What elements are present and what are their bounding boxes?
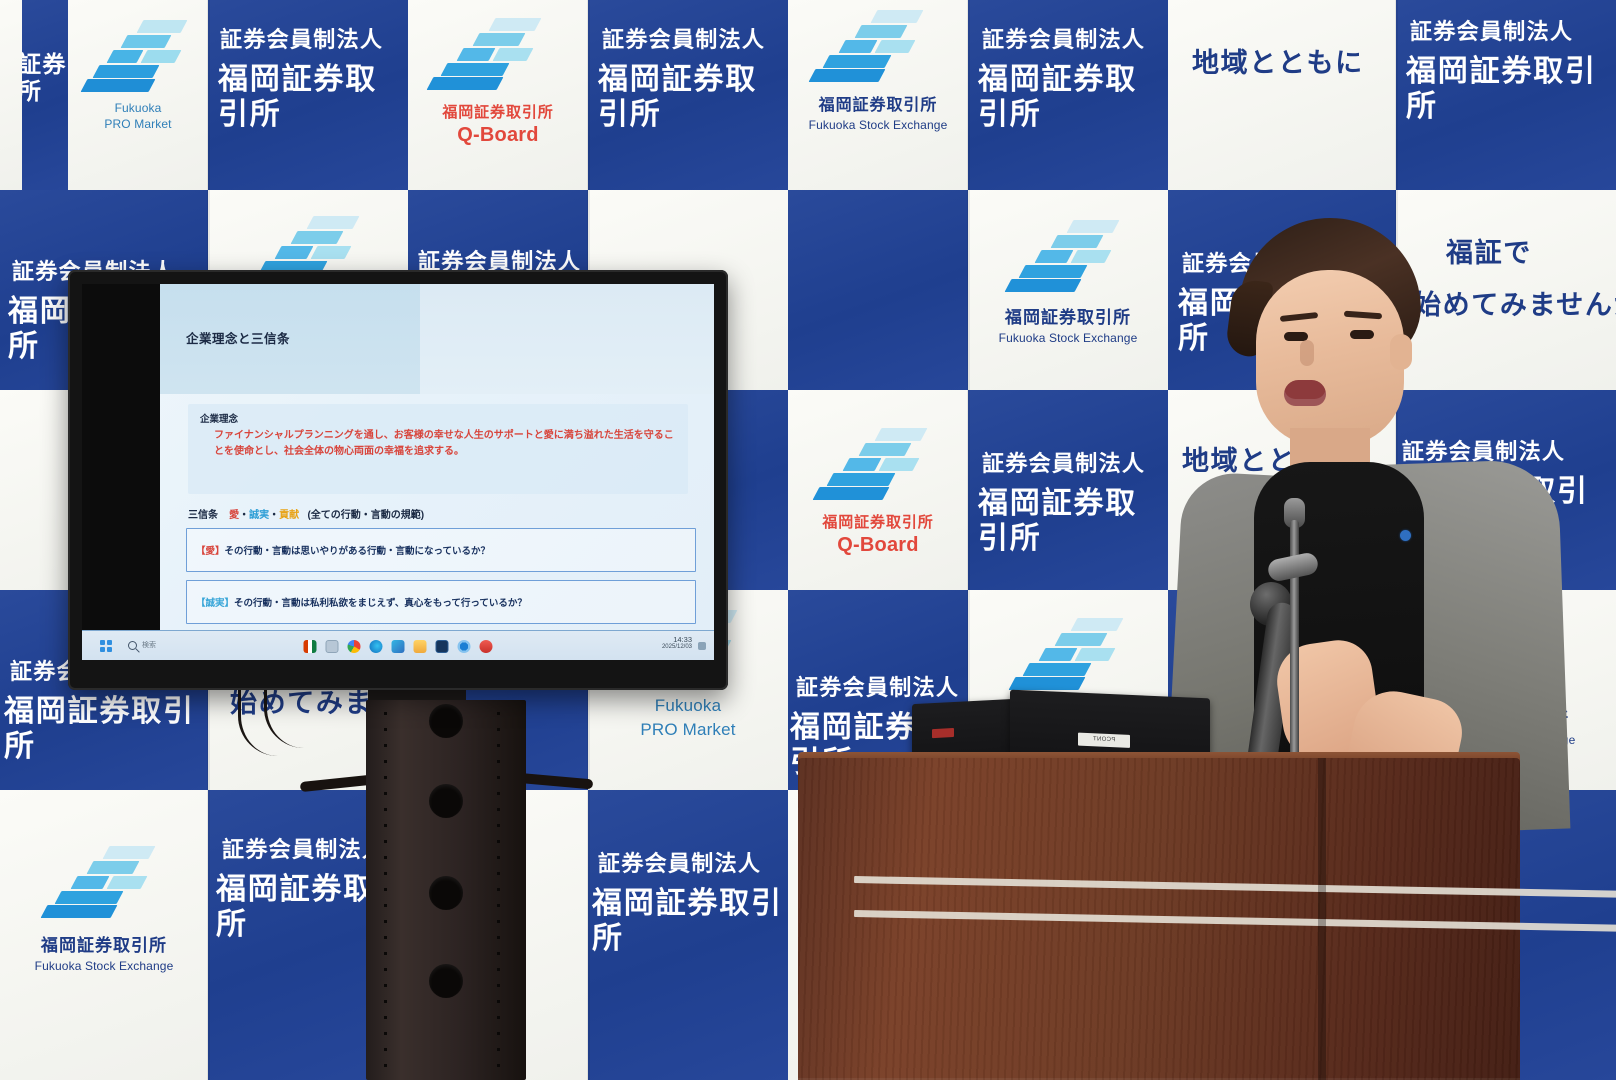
org-name: 福岡証券取引所 xyxy=(218,62,408,133)
fukuoka-stock-exchange-logo-icon xyxy=(1008,218,1126,298)
clock-date: 2025/12/03 xyxy=(662,644,692,652)
fukuoka-stock-exchange-logo-icon xyxy=(1012,616,1130,696)
adobe-icon[interactable] xyxy=(480,640,493,653)
eyebrow-left xyxy=(1280,312,1318,322)
org-prefix: 証券会員制法人 xyxy=(602,28,765,54)
backdrop-logo-cell: 福岡証券取引所 Fukuoka Stock Exchange xyxy=(788,0,968,190)
fse-line2: Fukuoka Stock Exchange xyxy=(968,331,1168,345)
logo-line2: PRO Market xyxy=(640,720,735,739)
fukuoka-stock-exchange-logo-icon xyxy=(812,8,930,88)
org-prefix: 証券会員制法人 xyxy=(222,838,385,864)
start-button-icon[interactable] xyxy=(100,640,112,652)
fukuoka-stock-exchange-logo-icon xyxy=(44,844,162,924)
backdrop-panel: 証券会員制法人 福岡証券取引所 xyxy=(968,390,1168,590)
creed-heading-label: 三信条 xyxy=(188,510,218,521)
nose xyxy=(1300,340,1314,366)
backdrop-panel: 証券会員制法人 福岡証券取引所 xyxy=(588,790,788,1080)
backdrop-logo-cell: 福岡証券取引所 Fukuoka Stock Exchange xyxy=(968,190,1168,390)
search-icon xyxy=(128,641,137,650)
creed-keyword-3: 貢献 xyxy=(279,510,299,521)
backdrop-logo-cell: Fukuoka PRO Market xyxy=(68,0,208,190)
slide-title: 企業理念と三信条 xyxy=(186,328,290,347)
file-explorer-icon[interactable] xyxy=(414,640,427,653)
podium xyxy=(798,758,1520,1080)
fse-line1: 福岡証券取引所 xyxy=(968,308,1168,328)
speaker-person xyxy=(1150,212,1570,832)
tray-icon[interactable] xyxy=(698,642,706,650)
eyebrow-right xyxy=(1344,311,1382,320)
tv-stand-column xyxy=(366,700,526,1080)
creed-row-seijitsu: 【誠実】その行動・言動は私利私欲をまじえず、真心をもって行っているか？ xyxy=(186,580,696,624)
laptop-badge: PCONT xyxy=(1078,733,1130,748)
screenshot-root: 証券所 Fukuoka PRO Market 証券会員制法人 福岡証券取引所 xyxy=(0,0,1616,1080)
thinkpad-logo-icon xyxy=(932,728,954,738)
philosophy-text: ファイナンシャルプランニングを通し、お客様の幸せな人生のサポートと愛に満ち溢れた… xyxy=(214,428,676,459)
office-icon[interactable] xyxy=(304,640,317,653)
backdrop-logo-cell: 福岡証券取引所 Q-Board xyxy=(788,390,968,590)
org-prefix: 証券会員制法人 xyxy=(982,452,1145,478)
qboard-line2: Q-Board xyxy=(788,534,968,557)
backdrop-panel xyxy=(788,190,968,390)
org-prefix: 証券会員制法人 xyxy=(598,852,761,878)
logo-line1: Fukuoka xyxy=(115,101,162,115)
backdrop-slogan-cell: 地域とともに xyxy=(1168,0,1396,190)
mouth xyxy=(1284,380,1326,406)
app-icon-dark[interactable] xyxy=(436,640,449,653)
backdrop-panel: 証券会員制法人 福岡証券取引所 xyxy=(968,0,1168,190)
backdrop-panel: 証券所 xyxy=(22,0,68,190)
laptop-badge-text: PCONT xyxy=(1078,733,1130,748)
q-board-logo-icon xyxy=(430,16,548,96)
lapel-pin xyxy=(1400,530,1411,541)
creed-heading: 三信条 愛・誠実・貢献 (全ての行動・言動の規範) xyxy=(188,506,424,521)
search-box[interactable]: 検索 xyxy=(128,640,156,650)
backdrop-panel: 証券会員制法人 福岡証券取引所 xyxy=(208,0,408,190)
clock-time: 14:33 xyxy=(662,635,692,644)
face xyxy=(1256,270,1404,446)
slogan-region: 地域とともに xyxy=(1192,48,1364,80)
philosophy-label: 企業理念 xyxy=(200,411,238,425)
fse-line1: 福岡証券取引所 xyxy=(0,936,208,956)
backdrop-panel xyxy=(0,0,22,190)
philosophy-box: 企業理念 ファイナンシャルプランニングを通し、お客様の幸せな人生のサポートと愛に… xyxy=(188,404,688,494)
taskbar-app-icons[interactable] xyxy=(304,631,493,660)
org-name: 福岡証券取引所 xyxy=(592,886,788,957)
qboard-line1: 福岡証券取引所 xyxy=(408,104,588,122)
qboard-line2: Q-Board xyxy=(408,124,588,147)
logo-line1: Fukuoka xyxy=(655,696,721,715)
snipping-tool-icon[interactable] xyxy=(326,640,339,653)
display-screen[interactable]: 企業理念と三信条 企業理念 ファイナンシャルプランニングを通し、お客様の幸せな人… xyxy=(82,284,714,660)
windows-taskbar[interactable]: 検索 14:33 2025/12/03 xyxy=(82,630,714,660)
presentation-slide[interactable]: 企業理念と三信条 企業理念 ファイナンシャルプランニングを通し、お客様の幸せな人… xyxy=(160,284,714,660)
creed-text-seijitsu: 【誠実】その行動・言動は私利私欲をまじえず、真心をもって行っているか？ xyxy=(196,595,527,609)
creed-keyword-2: 誠実 xyxy=(249,510,269,521)
backdrop-logo-cell: 福岡証券取引所 Fukuoka Stock Exchange xyxy=(0,790,208,1080)
org-prefix: 証券会員制法人 xyxy=(796,676,959,702)
creed-keyword-1: 愛 xyxy=(229,510,239,521)
org-name: 福岡証券取引所 xyxy=(978,486,1168,557)
fse-line1: 福岡証券取引所 xyxy=(788,96,968,115)
backdrop-panel: 証券会員制法人 福岡証券取引所 xyxy=(1396,0,1616,190)
org-name: 福岡証券取引所 xyxy=(978,62,1168,133)
search-placeholder: 検索 xyxy=(142,640,156,650)
teams-icon[interactable] xyxy=(392,640,405,653)
podium-corner-shadow xyxy=(1318,758,1326,1080)
fse-line2: Fukuoka Stock Exchange xyxy=(0,959,208,973)
creed-note: (全ての行動・言動の規範) xyxy=(307,510,424,521)
eye-right xyxy=(1350,330,1374,339)
taskbar-clock[interactable]: 14:33 2025/12/03 xyxy=(662,635,692,652)
ear xyxy=(1390,334,1412,370)
podium-stripe-lower xyxy=(854,910,1616,937)
logo-line2: PRO Market xyxy=(104,117,171,131)
creed-row-ai: 【愛】その行動・言動は思いやりがある行動・言動になっているか？ xyxy=(186,528,696,572)
backdrop-panel: 証券会員制法人 福岡証券取引所 xyxy=(588,0,788,190)
wall-display: 企業理念と三信条 企業理念 ファイナンシャルプランニングを通し、お客様の幸せな人… xyxy=(68,270,728,690)
q-board-logo-icon xyxy=(816,426,934,506)
creed-text-ai: 【愛】その行動・言動は思いやりがある行動・言動になっているか？ xyxy=(196,543,490,557)
edge-icon[interactable] xyxy=(370,640,383,653)
qboard-line1: 福岡証券取引所 xyxy=(788,514,968,532)
podium-stripe-upper xyxy=(854,876,1616,903)
org-name: 福岡証券取引所 xyxy=(4,694,208,765)
chrome-icon[interactable] xyxy=(348,640,361,653)
org-prefix: 証券会員制法人 xyxy=(220,28,383,54)
org-prefix: 証券会員制法人 xyxy=(982,28,1145,54)
backdrop-logo-cell: 福岡証券取引所 Q-Board xyxy=(408,0,588,190)
org-name: 福岡証券取引所 xyxy=(598,62,788,133)
fse-line2: Fukuoka Stock Exchange xyxy=(788,118,968,132)
slide-title-band-right xyxy=(420,284,714,394)
org-name: 福岡証券取引所 xyxy=(1406,54,1616,125)
settings-gear-icon[interactable] xyxy=(458,640,471,653)
org-prefix: 証券会員制法人 xyxy=(1410,20,1573,46)
fukuoka-pro-market-logo-icon xyxy=(84,18,192,96)
